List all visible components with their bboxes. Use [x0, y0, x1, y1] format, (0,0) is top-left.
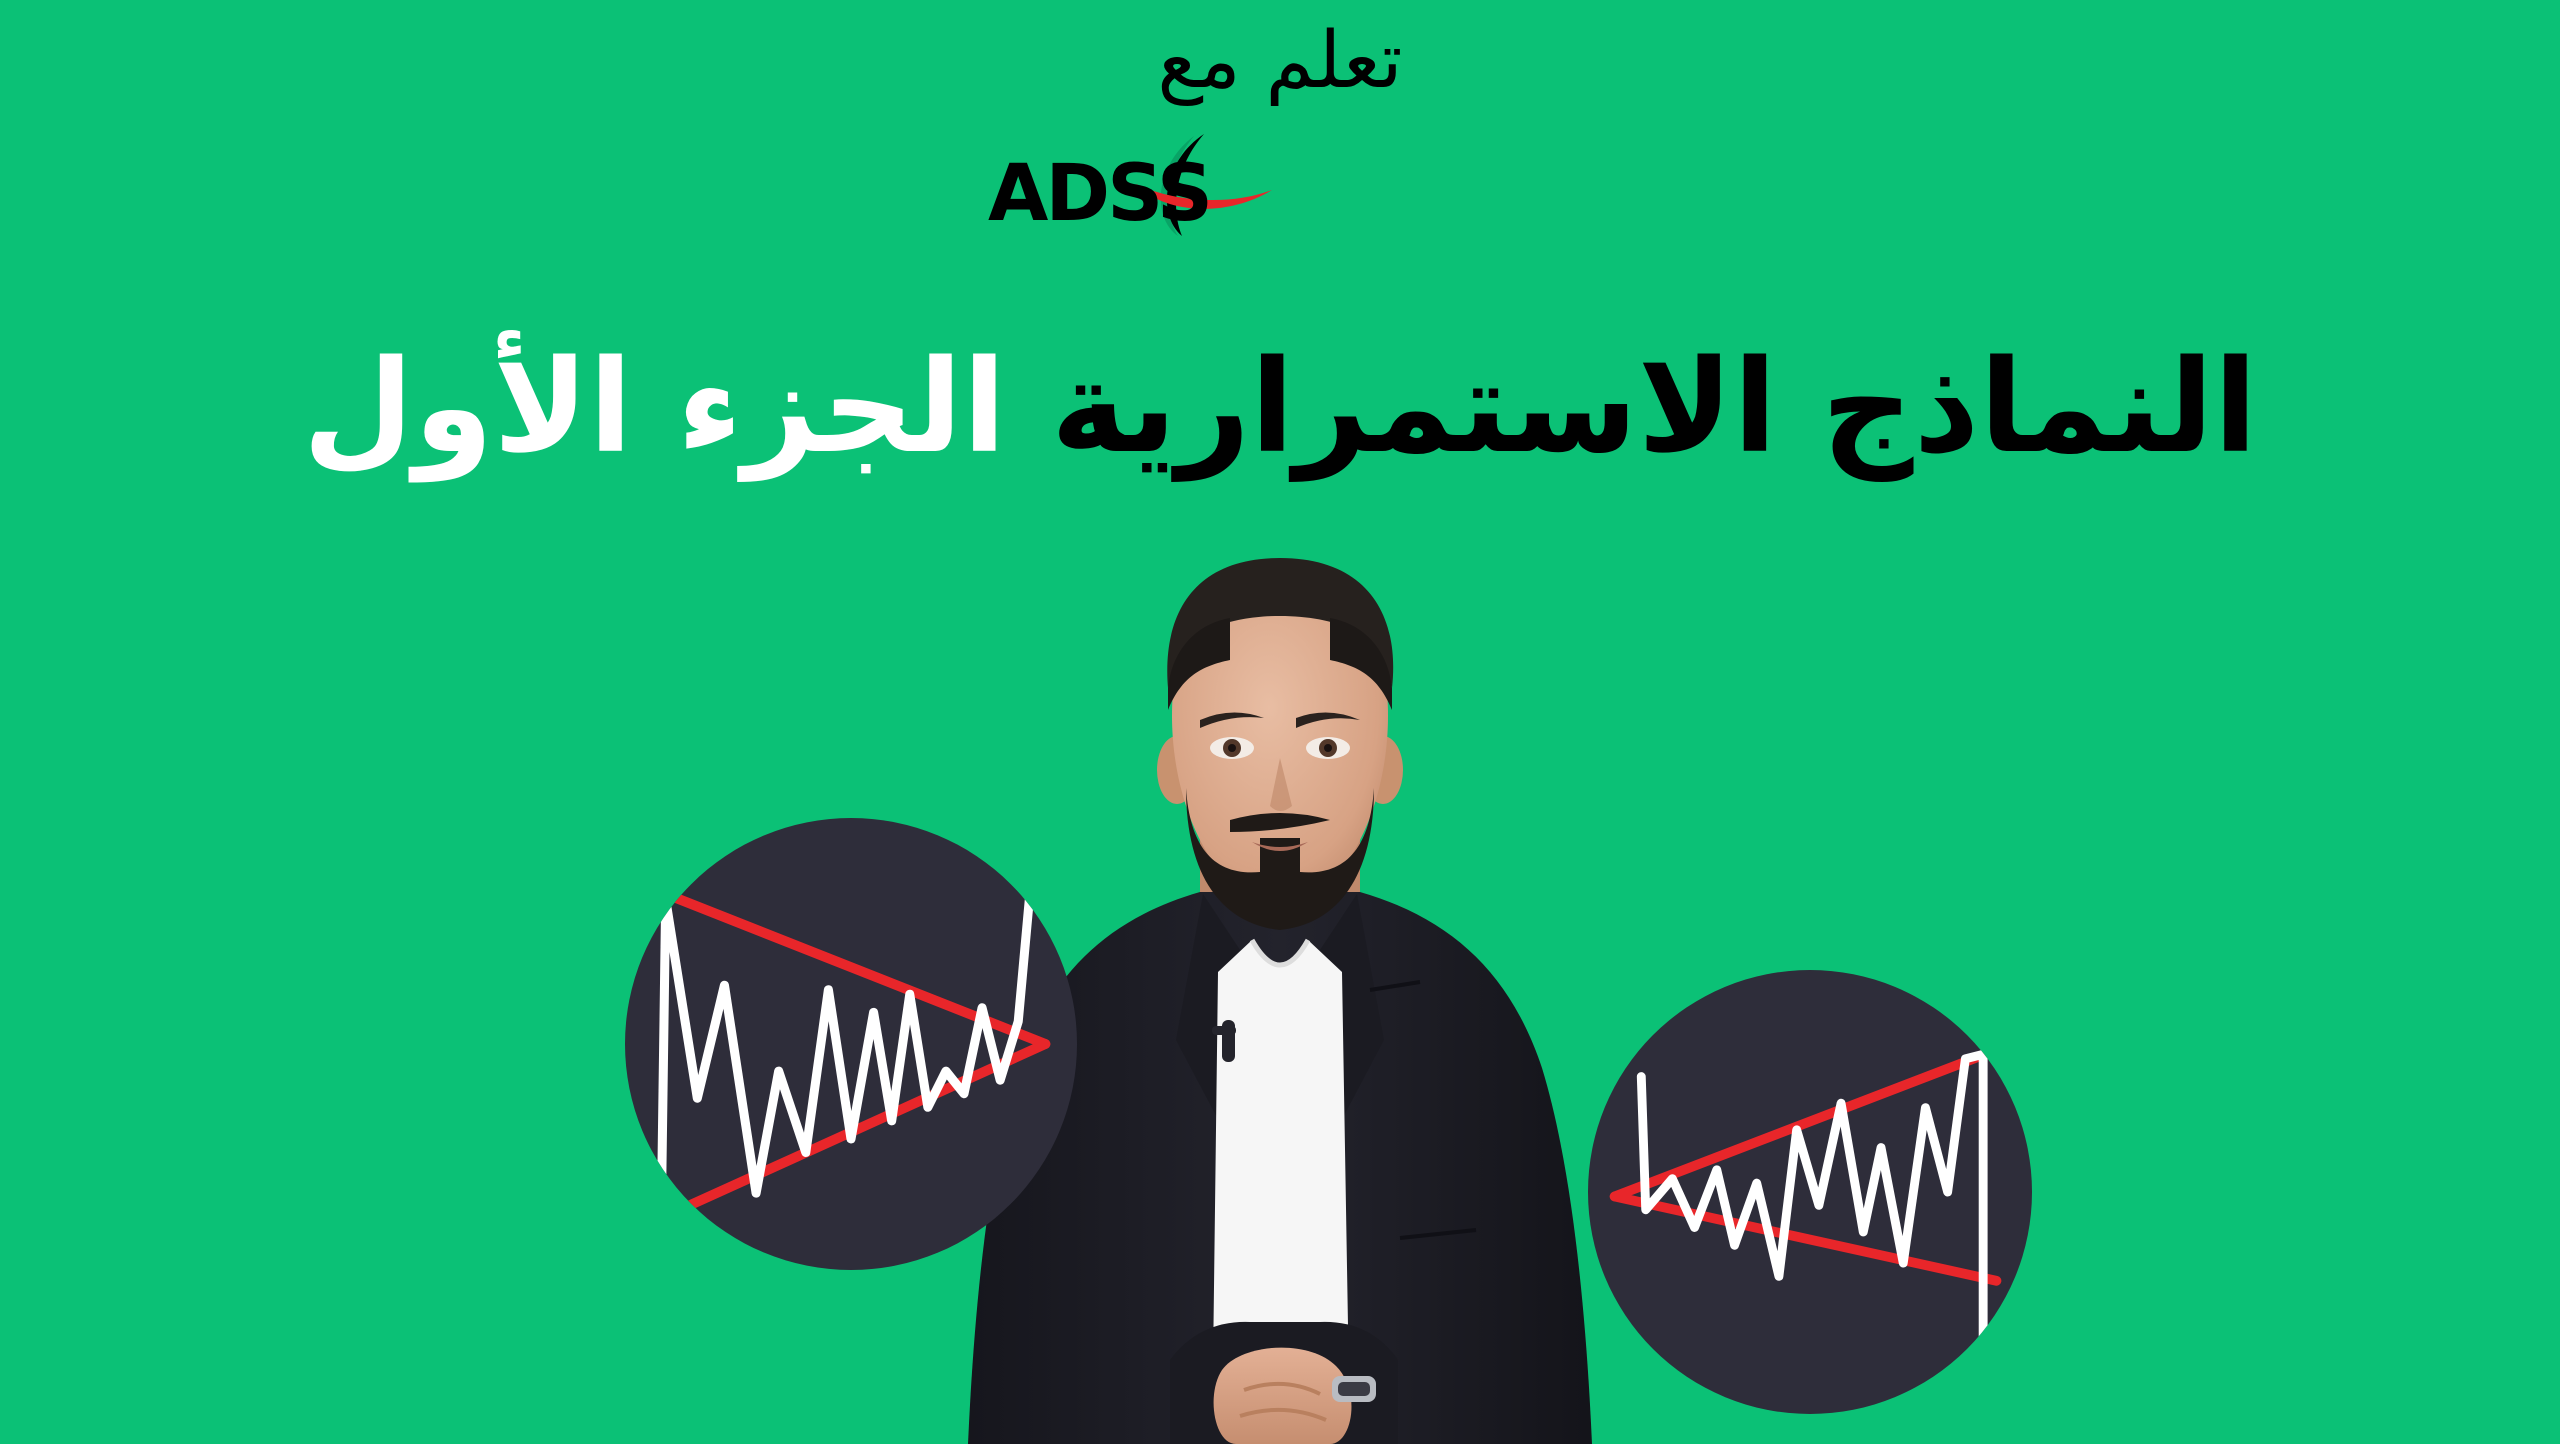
logo-backdrop-arc	[1161, 136, 1194, 236]
title-segment-secondary: الجزء الأول	[303, 333, 1007, 482]
logo-wordmark: ADSS	[988, 149, 1210, 239]
adss-logo: ADSS	[1130, 132, 1450, 237]
chart-bubble-broadening-formation	[1588, 970, 2032, 1414]
brand-tagline: تعلم مع	[0, 22, 2560, 100]
head	[1157, 558, 1403, 930]
clasped-hands	[1170, 1322, 1398, 1444]
eye-left	[1210, 737, 1254, 759]
trendline-lower-support	[1615, 1196, 1997, 1280]
logo-swoosh-icon	[1136, 184, 1272, 209]
eye-right	[1306, 737, 1350, 759]
wristwatch	[1332, 1376, 1376, 1402]
broadening-formation-chart	[1588, 970, 2032, 1414]
page-title: النماذج الاستمرارية الجزء الأول	[0, 330, 2560, 486]
logo-arc-icon	[1167, 134, 1204, 236]
price-series	[661, 872, 1032, 1225]
price-series	[1641, 1054, 1983, 1338]
brand-block: تعلم مع ADSS	[0, 0, 2560, 270]
title-segment-primary: النماذج الاستمرارية	[1051, 333, 2258, 482]
symmetrical-triangle-chart	[625, 818, 1077, 1270]
chart-bubble-symmetrical-triangle	[625, 818, 1077, 1270]
video-thumbnail-slide: تعلم مع ADSS النماذج الاستمرارية الجزء ا…	[0, 0, 2560, 1444]
